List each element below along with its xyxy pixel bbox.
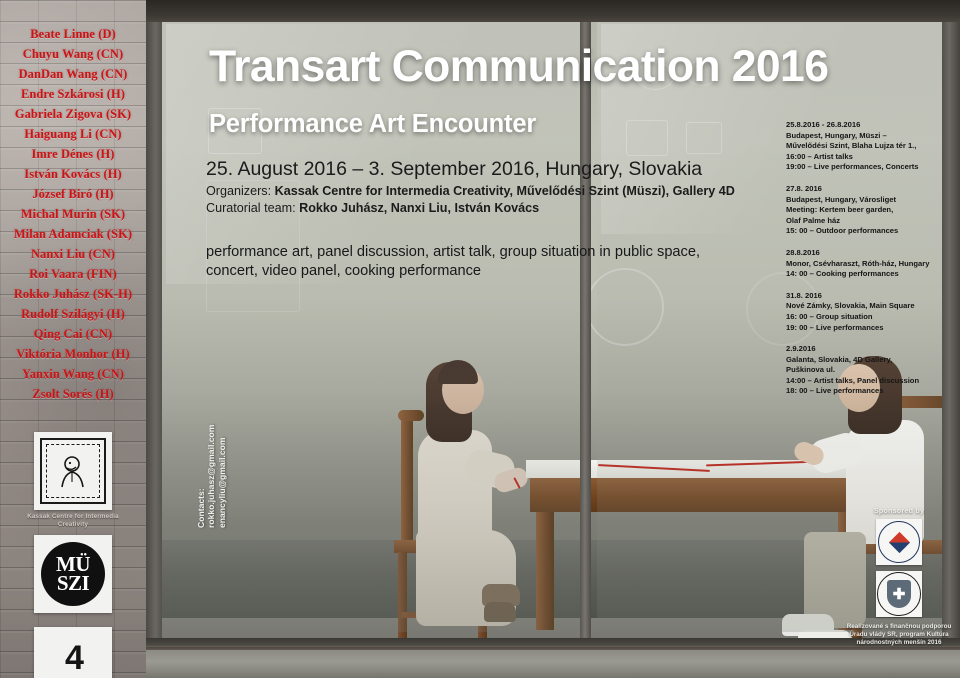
muszi-logo: MÜ SZI [34, 535, 112, 613]
schedule-entry-line-1: 14: 00 – Cooking performances [786, 269, 958, 280]
schedule-entry-2: 28.8.2016Monor, Csévharaszt, Róth-ház, H… [786, 248, 958, 280]
schedule-entry-line-2: Olaf Palme ház [786, 216, 958, 227]
schedule-entry-line-3: 18: 00 – Live performances [786, 386, 958, 397]
schedule-entry-0: 25.8.2016 - 26.8.2016Budapest, Hungary, … [786, 120, 958, 173]
poster-root: Beate Linne (D)Chuyu Wang (CN)DanDan Wan… [0, 0, 960, 678]
schedule-entry-line-3: 19:00 – Live performances, Concerts [786, 162, 958, 173]
window-lintel [146, 0, 960, 22]
schedule-entry-3: 31.8. 2016Nové Zámky, Slovakia, Main Squ… [786, 291, 958, 333]
artist-name-3: Endre Szkárosi (H) [0, 84, 146, 104]
schedule-entry-line-1: Művelődési Szint, Blaha Lujza tér 1., [786, 141, 958, 152]
contact-email-2[interactable]: enancyliu@gmail.com [217, 425, 227, 528]
slovak-institute-seal-icon [878, 521, 920, 563]
artist-name-1: Chuyu Wang (CN) [0, 44, 146, 64]
organizers-line: Organizers: Kassak Centre for Intermedia… [206, 184, 735, 199]
artist-name-4: Gabriela Zigova (SK) [0, 104, 146, 124]
gallery-4d-logo: 4 GALLERY [34, 627, 112, 678]
organizers-label: Organizers: [206, 184, 271, 198]
curatorial-label: Curatorial team: [206, 201, 296, 215]
artist-name-18: Zsolt Sorés (H) [0, 384, 146, 404]
artist-name-7: István Kovács (H) [0, 164, 146, 184]
schedule-entry-line-3: 15: 00 – Outdoor performances [786, 226, 958, 237]
organizer-logo-stack: Kassak Centre for Intermedia Creativity … [0, 432, 146, 678]
artist-name-5: Haiguang Li (CN) [0, 124, 146, 144]
schedule-entry-date: 31.8. 2016 [786, 291, 958, 302]
artist-name-0: Beate Linne (D) [0, 24, 146, 44]
organizers-value: Kassak Centre for Intermedia Creativity,… [275, 184, 735, 198]
double-cross-icon: ✚ [893, 587, 906, 602]
schedule-entry-line-2: 19: 00 – Live performances [786, 323, 958, 334]
muszi-circle-icon: MÜ SZI [41, 542, 105, 606]
schedule-list: 25.8.2016 - 26.8.2016Budapest, Hungary, … [786, 120, 958, 408]
gallery-4d-mark: 4 GALLERY [43, 641, 104, 678]
artist-name-17: Yanxin Wang (CN) [0, 364, 146, 384]
slovak-coat-of-arms-icon: ✚ [887, 580, 911, 608]
curatorial-value: Rokko Juhász, Nanxi Liu, István Kovács [299, 201, 539, 215]
window-frame-left [146, 0, 162, 640]
schedule-entry-line-1: 16: 00 – Group situation [786, 312, 958, 323]
schedule-entry-line-1: Meeting: Kertem beer garden, [786, 205, 958, 216]
artist-name-16: Viktória Monhor (H) [0, 344, 146, 364]
schedule-entry-line-1: Puškinova ul. [786, 365, 958, 376]
page-title: Transart Communication 2016 [209, 44, 828, 89]
artist-name-14: Rudolf Szilágyi (H) [0, 304, 146, 324]
urad-vlady-sr-logo: ✚ [876, 571, 922, 617]
sponsor-block: Sponsored by ✚ Realizované s finančnou p… [838, 506, 960, 648]
schedule-entry-date: 2.9.2016 [786, 344, 958, 355]
artist-name-9: Michal Murin (SK) [0, 204, 146, 224]
artist-name-8: József Biró (H) [0, 184, 146, 204]
urad-vlady-seal-icon: ✚ [877, 572, 921, 616]
artist-name-2: DanDan Wang (CN) [0, 64, 146, 84]
contact-email-1[interactable]: rokko.juhasz@gmail.com [206, 425, 216, 528]
window-mullion-center [580, 22, 591, 640]
artist-name-15: Qing Cai (CN) [0, 324, 146, 344]
schedule-entry-date: 27.8. 2016 [786, 184, 958, 195]
artist-name-11: Nanxi Liu (CN) [0, 244, 146, 264]
schedule-entry-line-2: 14:00 – Artist talks, Panel discussion [786, 376, 958, 387]
schedule-entry-date: 25.8.2016 - 26.8.2016 [786, 120, 958, 131]
artist-name-6: Imre Dénes (H) [0, 144, 146, 164]
sponsored-by-label: Sponsored by [838, 506, 960, 515]
muszi-line-2: SZI [57, 574, 89, 593]
contacts-label: Contacts: [196, 425, 206, 528]
schedule-entry-line-0: Galanta, Slovakia, 4D Gallery, [786, 355, 958, 366]
kassak-face-icon [53, 451, 93, 491]
schedule-entry-line-2: 16:00 – Artist talks [786, 152, 958, 163]
contacts-block: Contacts: rokko.juhasz@gmail.com enancyl… [196, 425, 227, 528]
slovak-institute-diamond-icon [888, 531, 909, 552]
kassak-centre-caption: Kassak Centre for Intermedia Creativity [18, 513, 128, 528]
artist-name-list: Beate Linne (D)Chuyu Wang (CN)DanDan Wan… [0, 24, 146, 404]
schedule-entry-date: 28.8.2016 [786, 248, 958, 259]
schedule-entry-4: 2.9.2016Galanta, Slovakia, 4D Gallery,Pu… [786, 344, 958, 397]
schedule-entry-line-0: Budapest, Hungary, Városliget [786, 195, 958, 206]
artist-name-10: Milan Adamciak (SK) [0, 224, 146, 244]
page-subtitle: Performance Art Encounter [209, 111, 536, 138]
kassak-centre-logo [34, 432, 112, 510]
artist-name-12: Roi Vaara (FIN) [0, 264, 146, 284]
schedule-entry-line-0: Budapest, Hungary, Müszi – [786, 131, 958, 142]
sponsor-footer-text: Realizované s finančnou podporou Úradu v… [838, 623, 960, 648]
gallery-4d-numeral: 4 [65, 641, 81, 675]
curatorial-line: Curatorial team: Rokko Juhász, Nanxi Liu… [206, 201, 539, 216]
artist-name-13: Rokko Juhász (SK-H) [0, 284, 146, 304]
slovak-institute-logo [876, 519, 922, 565]
schedule-entry-line-0: Monor, Csévharaszt, Róth-ház, Hungary [786, 259, 958, 270]
event-dates: 25. August 2016 – 3. September 2016, Hun… [206, 158, 702, 180]
kassak-stamp-icon [40, 438, 106, 504]
schedule-entry-1: 27.8. 2016Budapest, Hungary, VárosligetM… [786, 184, 958, 237]
schedule-entry-line-0: Nové Zámky, Slovakia, Main Square [786, 301, 958, 312]
program-description: performance art, panel discussion, artis… [206, 243, 746, 280]
